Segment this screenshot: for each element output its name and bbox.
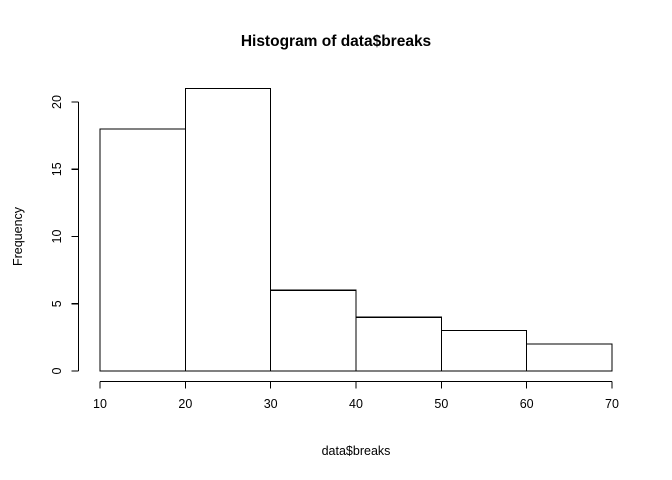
x-tick-label: 50 <box>434 397 448 411</box>
x-tick-label: 70 <box>605 397 619 411</box>
histogram-bar <box>441 331 526 371</box>
y-axis-title: Frequency <box>11 206 25 266</box>
x-axis: 10 20 30 40 50 60 70 data$breaks <box>93 382 619 459</box>
y-tick-label: 15 <box>50 162 64 176</box>
x-axis-title: data$breaks <box>322 444 391 458</box>
x-tick-label: 10 <box>93 397 107 411</box>
histogram-bar <box>100 129 185 371</box>
page-title: Histogram of data$breaks <box>241 33 431 50</box>
y-axis: 0 5 10 15 20 Frequency <box>11 95 79 374</box>
histogram-bar <box>271 290 356 371</box>
histogram-plot: Histogram of data$breaks 0 5 10 15 20 Fr… <box>0 0 672 480</box>
bars-group <box>100 89 612 371</box>
x-tick-label: 60 <box>520 397 534 411</box>
y-tick-label: 5 <box>50 300 64 307</box>
x-tick-label: 20 <box>178 397 192 411</box>
y-tick-label: 0 <box>50 367 64 374</box>
y-tick-label: 10 <box>50 230 64 244</box>
x-tick-label: 40 <box>349 397 363 411</box>
histogram-bar <box>185 89 270 371</box>
histogram-bar <box>356 317 441 371</box>
x-tick-label: 30 <box>264 397 278 411</box>
histogram-bar <box>527 344 612 371</box>
y-tick-label: 20 <box>50 95 64 109</box>
